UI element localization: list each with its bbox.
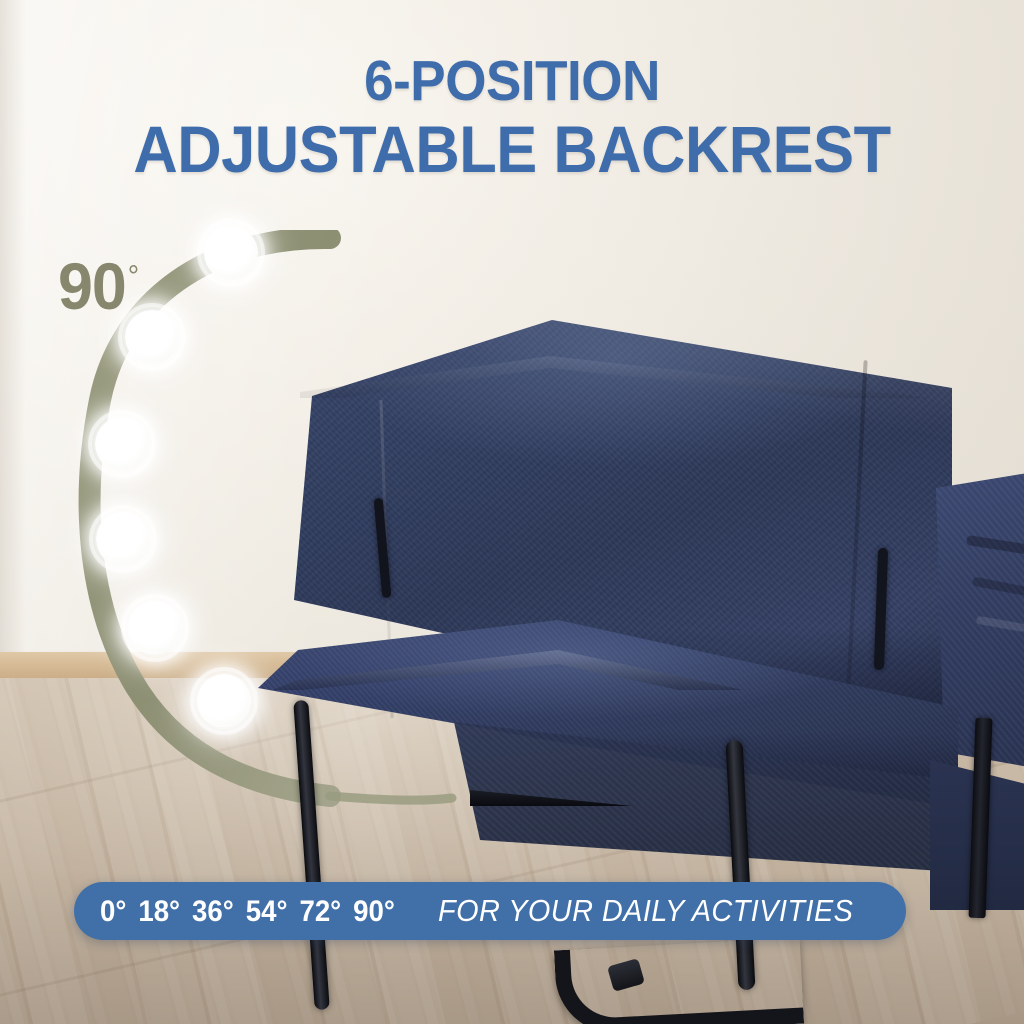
headline-line-2: ADJUSTABLE BACKREST	[36, 116, 988, 183]
banner-degree-90: 90°	[353, 895, 395, 928]
angle-banner: 0°18°36°54°72°90° FOR YOUR DAILY ACTIVIT…	[74, 882, 906, 940]
banner-degree-36: 36°	[192, 895, 234, 928]
banner-degree-72: 72°	[299, 895, 341, 928]
banner-degree-list: 0°18°36°54°72°90°	[100, 895, 407, 929]
banner-degree-54: 54°	[246, 895, 288, 928]
banner-content: 0°18°36°54°72°90° FOR YOUR DAILY ACTIVIT…	[74, 893, 884, 929]
metal-leg-foot-rail	[554, 938, 804, 1024]
marketing-image: 90° 6-POSITION ADJUSTABLE BACKREST	[0, 0, 1024, 1024]
headline-line-1: 6-POSITION	[36, 52, 988, 110]
banner-degree-0: 0°	[100, 895, 126, 928]
banner-tagline: FOR YOUR DAILY ACTIVITIES	[438, 893, 853, 929]
page-title: 6-POSITION ADJUSTABLE BACKREST	[0, 52, 1024, 183]
metal-leg-left	[282, 700, 352, 1024]
banner-degree-18: 18°	[138, 895, 180, 928]
